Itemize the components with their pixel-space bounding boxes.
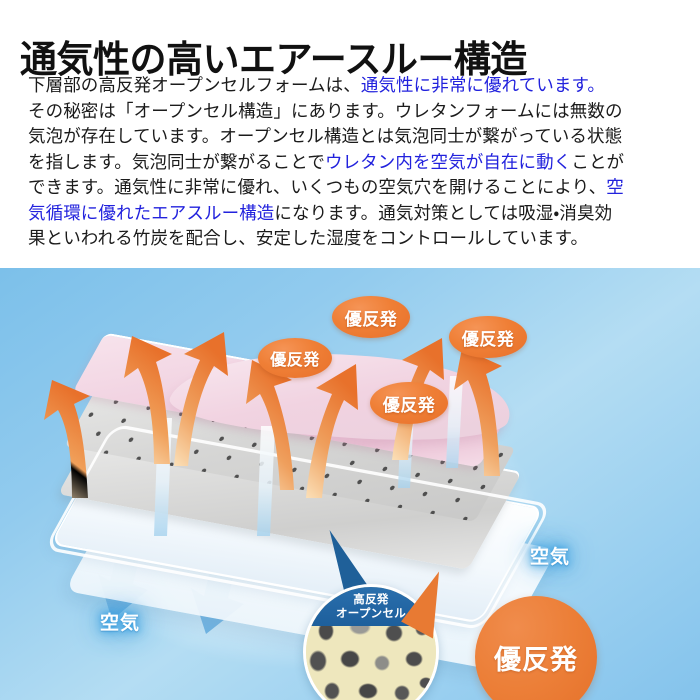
body-highlight-text: 気循環に優れたエアスルー構造 bbox=[28, 204, 274, 224]
body-text: 下層部の高反発オープンセルフォームは、 bbox=[28, 76, 361, 96]
illustration-panel: 優反発優反発優反発優反発 空気空気 高反発 オープンセル 優反発 bbox=[0, 268, 700, 700]
body-highlight-text: ウレタン内を空気が自在に動く bbox=[325, 153, 571, 173]
body-line: を指します。気泡同士が繋がることでウレタン内を空気が自在に動くことが bbox=[28, 151, 676, 177]
air-label-1: 空気 bbox=[100, 608, 140, 635]
rebound-arrow-7 bbox=[448, 348, 514, 476]
body-line: 下層部の高反発オープンセルフォームは、通気性に非常に優れています。 bbox=[28, 74, 676, 100]
body-text: ことが bbox=[571, 153, 624, 173]
body-text: できます。通気性に非常に優れ、いくつもの空気穴を開けることにより、 bbox=[28, 178, 606, 198]
infographic-page: 通気性の高いエアースルー構造 下層部の高反発オープンセルフォームは、通気性に非常… bbox=[0, 0, 700, 700]
rebound-arrow-3 bbox=[166, 332, 236, 466]
body-text: になります。通気対策としては吸湿・消臭効 bbox=[274, 204, 612, 224]
rebound-arrow-1 bbox=[38, 380, 100, 498]
rebound-balloon-label: 優反発 bbox=[494, 638, 578, 677]
air-label-2: 空気 bbox=[530, 542, 570, 569]
body-text: 気泡が存在しています。オープンセル構造とは気泡同士が繋がっている状態 bbox=[28, 127, 622, 147]
rebound-arrow-4 bbox=[236, 360, 304, 490]
body-line: 気循環に優れたエアスルー構造になります。通気対策としては吸湿・消臭効 bbox=[28, 202, 676, 228]
body-line: できます。通気性に非常に優れ、いくつもの空気穴を開けることにより、空 bbox=[28, 176, 676, 202]
body-line: 気泡が存在しています。オープンセル構造とは気泡同士が繋がっている状態 bbox=[28, 125, 676, 151]
rebound-arrow-5 bbox=[300, 364, 370, 498]
body-highlight-text: 通気性に非常に優れています。 bbox=[361, 76, 605, 96]
body-text: を指します。気泡同士が繋がることで bbox=[28, 153, 325, 173]
text-section: 通気性の高いエアースルー構造 下層部の高反発オープンセルフォームは、通気性に非常… bbox=[0, 0, 700, 268]
rebound-label-4[interactable]: 優反発 bbox=[449, 316, 527, 358]
body-line: 果といわれる竹炭を配合し、安定した湿度をコントロールしています。 bbox=[28, 227, 676, 253]
body-text: その秘密は「オープンセル構造」にあります。ウレタンフォームには無数の bbox=[28, 102, 623, 122]
body-highlight-text: 空 bbox=[606, 178, 624, 198]
body-line: その秘密は「オープンセル構造」にあります。ウレタンフォームには無数の bbox=[28, 100, 676, 126]
rebound-label-2[interactable]: 優反発 bbox=[332, 296, 410, 338]
rebound-label-1[interactable]: 優反発 bbox=[258, 338, 332, 378]
body-text: 果といわれる竹炭を配合し、安定した湿度をコントロールしています。 bbox=[28, 229, 588, 249]
body-paragraph: 下層部の高反発オープンセルフォームは、通気性に非常に優れています。その秘密は「オ… bbox=[28, 74, 676, 253]
rebound-label-3[interactable]: 優反発 bbox=[370, 382, 448, 424]
